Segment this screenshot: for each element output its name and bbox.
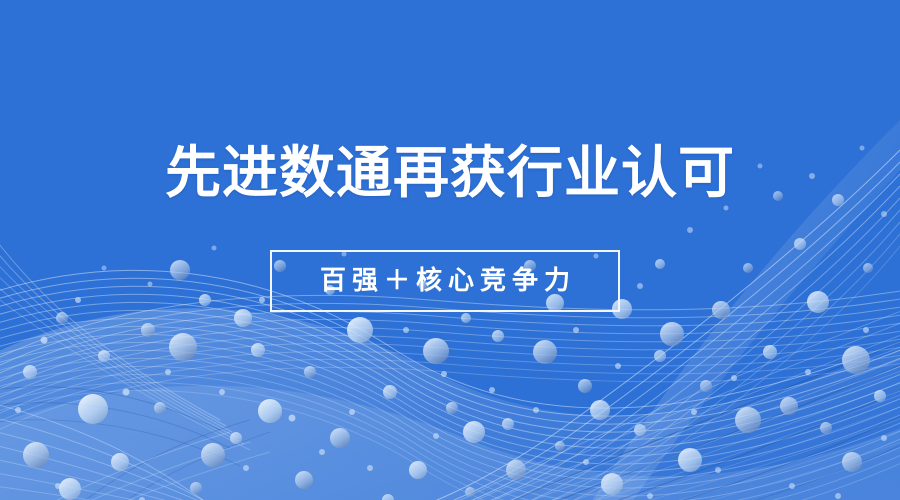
subtitle-badge: 百强＋核心竞争力 (270, 250, 620, 312)
banner-content: 先进数通再获行业认可 百强＋核心竞争力 (0, 0, 900, 500)
subtitle-text: 百强＋核心竞争力 (314, 266, 576, 296)
promo-banner: 先进数通再获行业认可 百强＋核心竞争力 (0, 0, 900, 500)
page-title: 先进数通再获行业认可 (0, 140, 900, 208)
